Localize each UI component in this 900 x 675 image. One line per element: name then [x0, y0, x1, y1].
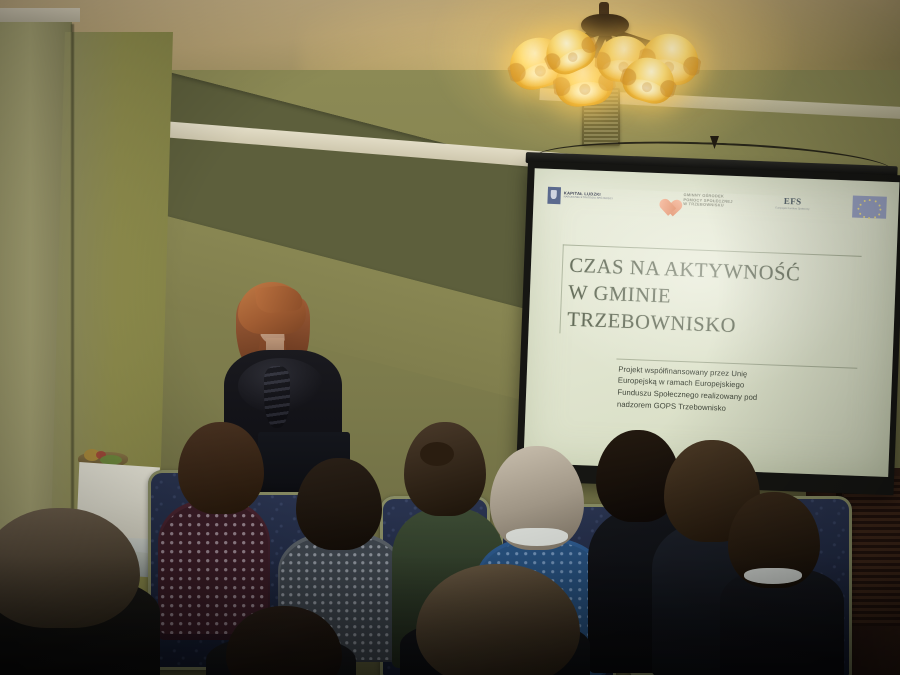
- audience-collar: [506, 528, 568, 546]
- presenter-hair-fringe: [255, 284, 303, 315]
- ceiling-chandelier: [495, 0, 725, 121]
- slide-title: CZAS NA AKTYWNOŚĆ W GMINIE TRZEBOWNISKO: [567, 252, 876, 345]
- audience-head: [404, 422, 486, 516]
- logo-kapital-ludzki: KAPITAŁ LUDZKI NARODOWA STRATEGIA SPÓJNO…: [547, 186, 613, 205]
- heart-icon: [655, 189, 677, 209]
- logo-gops-trzebownisko: GMINNY OŚRODEK POMOCY SPOŁECZNEJ W TRZEB…: [655, 189, 733, 211]
- slide-logo-row: KAPITAŁ LUDZKI NARODOWA STRATEGIA SPÓJNO…: [533, 172, 899, 230]
- audience-hair-bun: [420, 442, 454, 466]
- slide-rule-left: [559, 245, 563, 333]
- gops-line-3: W TRZEBOWNISKU: [683, 202, 733, 209]
- efs-subtitle: Europejski Fundusz Społeczny: [775, 208, 809, 212]
- audience-head: [0, 508, 140, 628]
- photo-scene: KAPITAŁ LUDZKI NARODOWA STRATEGIA SPÓJNO…: [0, 0, 900, 675]
- audience-head: [178, 422, 264, 514]
- eu-flag-stars: [852, 195, 887, 218]
- logo-efs: EFS Europejski Fundusz Społeczny: [775, 197, 810, 212]
- eu-flag-icon: [852, 195, 887, 218]
- audience-group: [0, 400, 900, 675]
- kapital-ludzki-mark-icon: [547, 186, 561, 203]
- kapital-ludzki-subtitle: NARODOWA STRATEGIA SPÓJNOŚCI: [564, 197, 613, 201]
- audience-collar: [744, 568, 802, 584]
- wall-column-cap: [0, 8, 80, 22]
- efs-wordmark: EFS: [784, 197, 802, 207]
- audience-head: [296, 458, 382, 550]
